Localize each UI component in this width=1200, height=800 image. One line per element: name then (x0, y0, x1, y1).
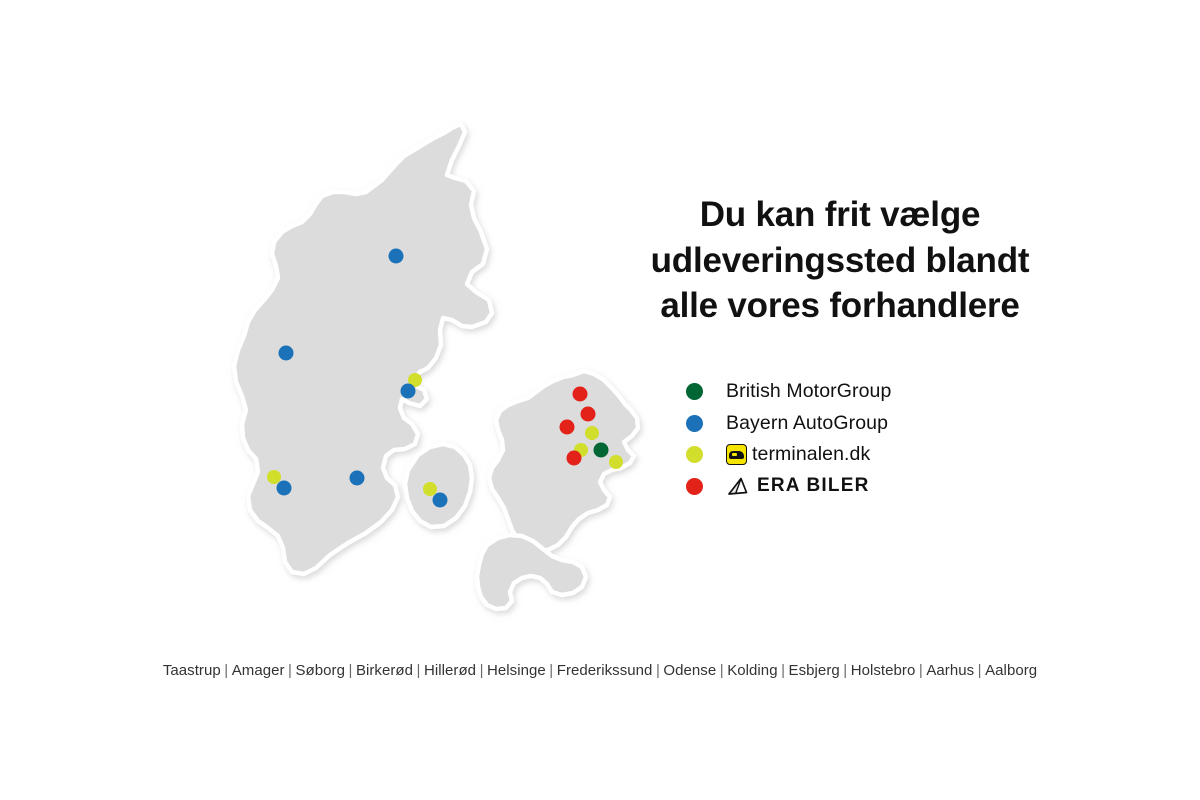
map-marker-taastrup[interactable] (567, 451, 582, 466)
city-separator: | (840, 662, 851, 679)
map-marker-helsinge[interactable] (573, 387, 588, 402)
city-separator: | (413, 662, 424, 679)
city-name: Esbjerg (789, 662, 840, 679)
map-landmasses (234, 124, 638, 609)
city-name: Søborg (296, 662, 346, 679)
map-marker-hillerod[interactable] (581, 407, 596, 422)
city-list: Taastrup|Amager|Søborg|Birkerød|Hillerød… (0, 662, 1200, 679)
city-separator: | (221, 662, 232, 679)
city-separator: | (716, 662, 727, 679)
map-marker-amager-term[interactable] (609, 455, 623, 469)
city-name: Helsinge (487, 662, 546, 679)
map-marker-birkerod-term[interactable] (585, 426, 599, 440)
map-marker-soborg[interactable] (594, 443, 609, 458)
map-svg (200, 100, 660, 640)
city-name: Frederikssund (557, 662, 653, 679)
terminalen-logo-icon (726, 444, 747, 465)
city-name: Aalborg (985, 662, 1037, 679)
city-separator: | (476, 662, 487, 679)
denmark-map (200, 100, 660, 640)
legend-item-bayern-autogroup[interactable]: Bayern AutoGroup (686, 408, 1106, 440)
city-separator: | (546, 662, 557, 679)
region-lolland-falster (477, 535, 586, 609)
city-name: Holstebro (851, 662, 916, 679)
legend-label-bayern-autogroup: Bayern AutoGroup (726, 412, 888, 435)
city-separator: | (285, 662, 296, 679)
city-separator: | (915, 662, 926, 679)
legend-item-terminalen[interactable]: terminalen.dk (686, 439, 1106, 471)
legend-dot-red (686, 478, 703, 495)
legend-item-era-biler[interactable]: ERA BILER (686, 471, 1106, 503)
map-marker-odense[interactable] (433, 493, 448, 508)
city-name: Hillerød (424, 662, 476, 679)
legend-dot-blue (686, 415, 703, 432)
legend-dot-green (686, 383, 703, 400)
map-marker-frederikssund[interactable] (560, 420, 575, 435)
map-marker-aalborg[interactable] (389, 249, 404, 264)
legend-label-era-biler: ERA BILER (726, 475, 870, 497)
legend-item-british-motorgroup[interactable]: British MotorGroup (686, 376, 1106, 408)
terminalen-window-glyph (732, 453, 737, 456)
page-root: Du kan frit vælge udleveringssted blandt… (0, 0, 1200, 800)
map-marker-holstebro[interactable] (279, 346, 294, 361)
city-name: Kolding (727, 662, 777, 679)
map-marker-odense-term[interactable] (423, 482, 437, 496)
map-marker-esbjerg[interactable] (277, 481, 292, 496)
map-marker-esbjerg-term[interactable] (267, 470, 281, 484)
city-name: Taastrup (163, 662, 221, 679)
brand-legend: British MotorGroup Bayern AutoGroup term… (686, 376, 1106, 502)
era-biler-logo-icon (726, 476, 751, 497)
legend-label-british-motorgroup: British MotorGroup (726, 380, 891, 403)
legend-dot-yellow (686, 446, 703, 463)
city-name: Birkerød (356, 662, 413, 679)
map-marker-kolding[interactable] (350, 471, 365, 486)
city-name: Amager (232, 662, 285, 679)
city-name: Odense (663, 662, 716, 679)
page-headline: Du kan frit vælge udleveringssted blandt… (600, 192, 1080, 329)
city-separator: | (652, 662, 663, 679)
map-marker-aarhus[interactable] (401, 384, 416, 399)
city-separator: | (345, 662, 356, 679)
city-name: Aarhus (926, 662, 974, 679)
city-separator: | (778, 662, 789, 679)
city-separator: | (974, 662, 985, 679)
region-funen (405, 444, 472, 527)
legend-label-terminalen: terminalen.dk (726, 443, 870, 466)
